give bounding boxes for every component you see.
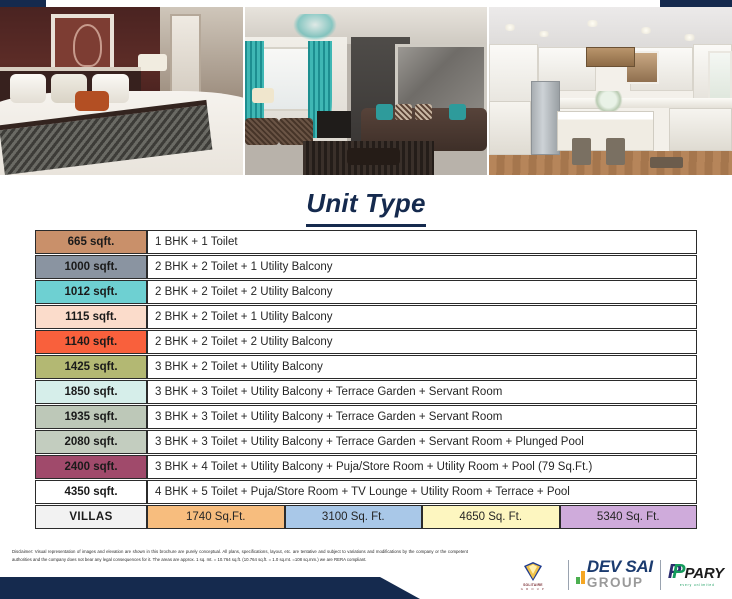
diamond-icon <box>522 560 544 582</box>
page-title-wrap: Unit Type <box>0 188 732 227</box>
dev-sai-group-word: GROUP <box>587 575 644 590</box>
kitchen-recessed-light <box>504 24 516 31</box>
unit-type-table-body: 665 sqft.1 BHK + 1 Toilet1000 sqft.2 BHK… <box>35 230 697 529</box>
unit-description-cell: 3 BHK + 2 Toilet + Utility Balcony <box>147 355 697 379</box>
pary-p-mark-green: P <box>672 564 685 581</box>
bedroom-bedside-lamp <box>138 54 167 71</box>
bar-chart-icon <box>576 566 585 584</box>
bedroom-art-motif <box>73 24 102 68</box>
table-row: 2080 sqft.3 BHK + 3 Toilet + Utility Bal… <box>35 430 697 454</box>
living-room-cushion <box>415 104 432 119</box>
logo-divider <box>660 560 661 590</box>
dev-sai-name: DEV SAI <box>587 557 653 576</box>
living-room-cushion <box>395 104 412 119</box>
table-row: 1012 sqft.2 BHK + 2 Toilet + 2 Utility B… <box>35 280 697 304</box>
unit-description-cell: 3 BHK + 3 Toilet + Utility Balcony + Ter… <box>147 380 697 404</box>
top-left-accent-bar <box>0 0 46 7</box>
dev-sai-text: DEV SAI GROUP <box>587 559 653 590</box>
logo-divider <box>568 560 569 590</box>
unit-area-cell: 1425 sqft. <box>35 355 147 379</box>
villa-size-cell: 4650 Sq. Ft. <box>422 505 560 529</box>
table-row: 1140 sqft.2 BHK + 2 Toilet + 2 Utility B… <box>35 330 697 354</box>
living-room-cushion <box>376 104 393 119</box>
villa-size-cell: 3100 Sq. Ft. <box>285 505 423 529</box>
kitchen-recessed-light <box>538 31 550 38</box>
kitchen-recessed-light <box>640 27 652 34</box>
gold-diamond-logo: SOLITAIRE G R O U P <box>505 560 561 591</box>
kitchen-refrigerator <box>531 81 560 155</box>
unit-area-cell: 1140 sqft. <box>35 330 147 354</box>
unit-description-cell: 2 BHK + 2 Toilet + 1 Utility Balcony <box>147 255 697 279</box>
unit-area-cell: 1115 sqft. <box>35 305 147 329</box>
chandelier-icon <box>293 14 337 41</box>
unit-area-cell: 1000 sqft. <box>35 255 147 279</box>
diamond-logo-line2: G R O U P <box>521 587 545 591</box>
kitchen-flower-vase <box>594 91 623 113</box>
table-row: 665 sqft.1 BHK + 1 Toilet <box>35 230 697 254</box>
table-row: 1425 sqft.3 BHK + 2 Toilet + Utility Bal… <box>35 355 697 379</box>
unit-description-cell: 2 BHK + 2 Toilet + 2 Utility Balcony <box>147 280 697 304</box>
bedroom-accent-cushion <box>75 91 109 111</box>
kitchen-recessed-light <box>586 20 598 27</box>
unit-description-cell: 3 BHK + 4 Toilet + Utility Balcony + Puj… <box>147 455 697 479</box>
table-row: 2400 sqft.3 BHK + 4 Toilet + Utility Bal… <box>35 455 697 479</box>
villa-size-cell: 1740 Sq.Ft. <box>147 505 285 529</box>
hero-image-strip <box>0 7 732 175</box>
unit-description-cell: 4 BHK + 5 Toilet + Puja/Store Room + TV … <box>147 480 697 504</box>
table-row: 1850 sqft.3 BHK + 3 Toilet + Utility Bal… <box>35 380 697 404</box>
unit-area-cell: 2400 sqft. <box>35 455 147 479</box>
living-room-coffee-table <box>347 148 400 165</box>
unit-description-cell: 2 BHK + 2 Toilet + 1 Utility Balcony <box>147 305 697 329</box>
living-room-photo <box>245 7 488 175</box>
kitchen-window <box>708 51 732 101</box>
kitchen-base-cabinet <box>489 101 530 155</box>
pary-tagline: every unlimited <box>680 583 715 587</box>
bedroom-photo <box>0 7 243 175</box>
villas-label-cell: VILLAS <box>35 505 147 529</box>
kitchen-recessed-light <box>683 34 695 41</box>
logo-row: SOLITAIRE G R O U P DEV SAI GROUP P P PA… <box>505 556 724 594</box>
unit-area-cell: 665 sqft. <box>35 230 147 254</box>
dev-sai-group-logo: DEV SAI GROUP <box>576 559 653 590</box>
kitchen-pendant-light <box>586 47 635 67</box>
table-row: 4350 sqft.4 BHK + 5 Toilet + Puja/Store … <box>35 480 697 504</box>
pary-logo-row: P P PARY <box>668 564 724 582</box>
villa-size-cell: 5340 Sq. Ft. <box>560 505 698 529</box>
unit-area-cell: 4350 sqft. <box>35 480 147 504</box>
disclaimer-text: Disclaimer: Visual representation of ima… <box>12 548 468 564</box>
unit-description-cell: 1 BHK + 1 Toilet <box>147 230 697 254</box>
unit-description-cell: 2 BHK + 2 Toilet + 2 Utility Balcony <box>147 330 697 354</box>
pary-logo: P P PARY every unlimited <box>668 564 724 587</box>
living-room-armchair <box>245 118 279 145</box>
kitchen-photo <box>489 7 732 175</box>
unit-area-cell: 1935 sqft. <box>35 405 147 429</box>
kitchen-base-cabinet <box>669 108 732 152</box>
villas-row: VILLAS1740 Sq.Ft.3100 Sq. Ft.4650 Sq. Ft… <box>35 505 697 529</box>
table-row: 1000 sqft.2 BHK + 2 Toilet + 1 Utility B… <box>35 255 697 279</box>
unit-type-table-wrap: 665 sqft.1 BHK + 1 Toilet1000 sqft.2 BHK… <box>35 229 697 530</box>
unit-description-cell: 3 BHK + 3 Toilet + Utility Balcony + Ter… <box>147 430 697 454</box>
table-row: 1115 sqft.2 BHK + 2 Toilet + 1 Utility B… <box>35 305 697 329</box>
unit-type-table: 665 sqft.1 BHK + 1 Toilet1000 sqft.2 BHK… <box>35 229 697 530</box>
living-room-floor-lamp <box>252 88 274 103</box>
unit-area-cell: 1850 sqft. <box>35 380 147 404</box>
unit-area-cell: 1012 sqft. <box>35 280 147 304</box>
pary-name-text: PARY <box>685 565 725 582</box>
bedroom-pillow <box>10 74 46 103</box>
kitchen-floor-mat <box>650 157 684 169</box>
table-row: 1935 sqft.3 BHK + 3 Toilet + Utility Bal… <box>35 405 697 429</box>
unit-area-cell: 2080 sqft. <box>35 430 147 454</box>
living-room-cushion <box>449 104 466 119</box>
kitchen-bar-stool <box>606 138 625 165</box>
kitchen-bar-stool <box>572 138 591 165</box>
brochure-page: Unit Type 665 sqft.1 BHK + 1 Toilet1000 … <box>0 0 732 599</box>
living-room-console-table <box>317 111 351 138</box>
unit-description-cell: 3 BHK + 3 Toilet + Utility Balcony + Ter… <box>147 405 697 429</box>
page-title: Unit Type <box>306 188 425 227</box>
kitchen-countertop <box>669 98 732 108</box>
